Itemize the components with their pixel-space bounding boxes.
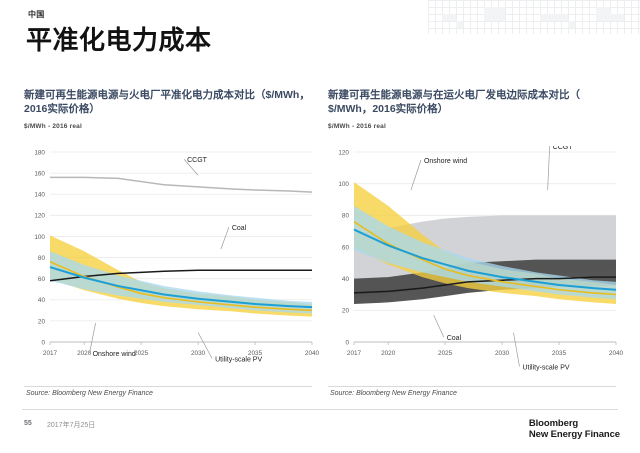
y-axis-tick-label: 100 bbox=[338, 181, 349, 188]
annotation-leader bbox=[411, 160, 421, 190]
grid-accent-block bbox=[596, 7, 610, 21]
slide-canvas: 中国 平准化电力成本 新建可再生能源电源与火电厂平准化电力成本对比（$/MWh，… bbox=[0, 0, 640, 453]
footer-divider bbox=[22, 409, 618, 410]
series-annotation-label: Utility-scale PV bbox=[215, 357, 262, 364]
series-annotation-label: Onshore wind bbox=[93, 351, 136, 358]
y-axis-tick-label: 40 bbox=[342, 276, 350, 283]
chart-subtitle-right: $/MWh - 2016 real bbox=[328, 123, 624, 130]
y-axis-tick-label: 120 bbox=[34, 213, 45, 220]
grid-accent-block bbox=[442, 14, 456, 21]
plot-area-right: 020406080100120201720202025203020352040O… bbox=[328, 146, 624, 376]
panel-divider-left bbox=[24, 386, 312, 387]
annotation-leader bbox=[221, 227, 229, 249]
logo-line-1: Bloomberg bbox=[529, 418, 620, 429]
chart-title-left: 新建可再生能源电源与火电厂平准化电力成本对比（$/MWh，2016实际价格） bbox=[24, 88, 320, 116]
page-title: 平准化电力成本 bbox=[26, 20, 212, 57]
x-axis-tick-label: 2017 bbox=[347, 350, 362, 357]
series-annotation-label: CCGT bbox=[553, 146, 574, 151]
y-axis-tick-label: 40 bbox=[38, 297, 46, 304]
y-axis-tick-label: 160 bbox=[34, 171, 45, 178]
plot-area-left: 0204060801001201401601802017202020252030… bbox=[24, 146, 320, 376]
annotation-leader bbox=[90, 323, 96, 353]
y-axis-tick-label: 0 bbox=[41, 339, 45, 346]
x-axis-tick-label: 2017 bbox=[43, 350, 58, 357]
chart-svg-left: 0204060801001201401601802017202020252030… bbox=[24, 146, 320, 376]
x-axis-tick-label: 2025 bbox=[134, 350, 149, 357]
x-axis-tick-label: 2020 bbox=[77, 350, 92, 357]
x-axis-tick-label: 2035 bbox=[552, 350, 567, 357]
y-axis-tick-label: 100 bbox=[34, 234, 45, 241]
x-axis-tick-label: 2020 bbox=[381, 350, 396, 357]
y-axis-tick-label: 120 bbox=[338, 149, 349, 156]
y-axis-tick-label: 80 bbox=[38, 255, 46, 262]
grid-accent-block bbox=[456, 21, 463, 28]
decorative-grid-pattern bbox=[428, 0, 640, 34]
chart-title-right: 新建可再生能源电源与在运火电厂发电边际成本对比（ $/MWh，2016实际价格） bbox=[328, 88, 624, 116]
grid-accent-block bbox=[540, 14, 568, 21]
bloomberg-nef-logo: Bloomberg New Energy Finance bbox=[529, 418, 620, 440]
x-axis-tick-label: 2030 bbox=[495, 350, 510, 357]
panel-divider-right bbox=[328, 386, 616, 387]
page-number: 55 bbox=[24, 420, 32, 427]
x-axis-tick-label: 2025 bbox=[438, 350, 453, 357]
y-axis-tick-label: 60 bbox=[342, 244, 350, 251]
series-annotation-label: Onshore wind bbox=[424, 158, 467, 165]
series-annotation-label: Coal bbox=[232, 225, 247, 232]
y-axis-tick-label: 0 bbox=[345, 339, 349, 346]
chart-svg-right: 020406080100120201720202025203020352040O… bbox=[328, 146, 624, 376]
chart-subtitle-left: $/MWh - 2016 real bbox=[24, 123, 320, 130]
y-axis-tick-label: 80 bbox=[342, 213, 350, 220]
annotation-leader bbox=[513, 333, 519, 367]
grid-accent-block bbox=[610, 14, 624, 21]
x-axis-tick-label: 2040 bbox=[305, 350, 320, 357]
grid-accent-block bbox=[484, 7, 505, 21]
y-axis-tick-label: 20 bbox=[342, 308, 350, 315]
series-annotation-label: CCGT bbox=[187, 157, 208, 164]
series-line-ccgt bbox=[50, 177, 312, 192]
chart-panel-lcoe-new-build: 新建可再生能源电源与火电厂平准化电力成本对比（$/MWh，2016实际价格） $… bbox=[24, 88, 320, 428]
x-axis-tick-label: 2030 bbox=[191, 350, 206, 357]
source-note-left: Source: Bloomberg New Energy Finance bbox=[26, 390, 153, 397]
chart-panel-lcoe-vs-marginal: 新建可再生能源电源与在运火电厂发电边际成本对比（ $/MWh，2016实际价格）… bbox=[328, 88, 624, 428]
slide-kicker: 中国 bbox=[28, 9, 45, 20]
series-annotation-label: Coal bbox=[447, 335, 462, 342]
annotation-leader bbox=[434, 315, 444, 337]
y-axis-tick-label: 60 bbox=[38, 276, 46, 283]
source-note-right: Source: Bloomberg New Energy Finance bbox=[330, 390, 457, 397]
x-axis-tick-label: 2040 bbox=[609, 350, 624, 357]
series-annotation-label: Utility-scale PV bbox=[522, 365, 569, 372]
y-axis-tick-label: 20 bbox=[38, 318, 46, 325]
y-axis-tick-label: 140 bbox=[34, 192, 45, 199]
grid-accent-block bbox=[568, 21, 575, 28]
logo-line-2: New Energy Finance bbox=[529, 429, 620, 440]
footer-date: 2017年7月25日 bbox=[47, 420, 95, 430]
y-axis-tick-label: 180 bbox=[34, 149, 45, 156]
